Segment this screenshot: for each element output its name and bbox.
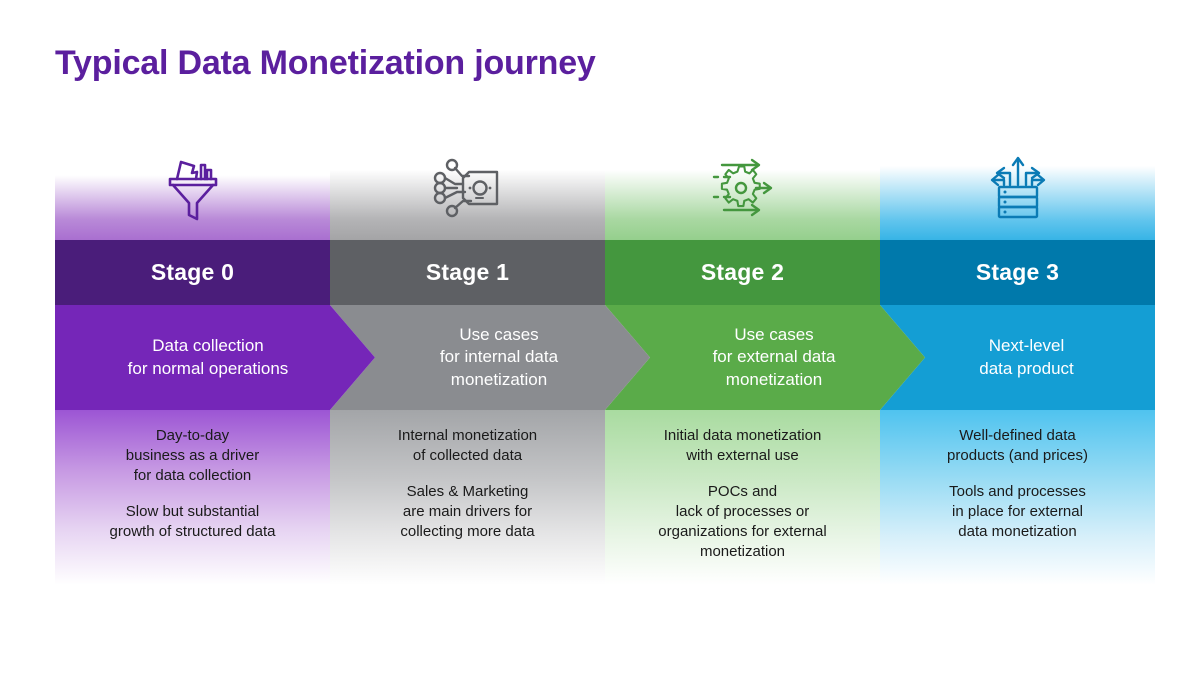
stage-3-detail-item: Tools and processesin place for external… — [880, 482, 1155, 542]
stage-1-details: Internal monetizationof collected data S… — [330, 410, 605, 585]
stage-0-icon-panel — [55, 145, 330, 240]
stage-1-header: Stage 1 — [330, 240, 605, 305]
stage-0-summary-line: for normal operations — [88, 358, 328, 381]
stage-0-label: Stage 0 — [151, 259, 234, 286]
stage-3-summary-line: Next-level — [908, 335, 1145, 358]
stage-2-arrow: Use cases for external data monetization — [605, 305, 925, 410]
server-distribution-arrows-icon — [880, 153, 1155, 223]
stage-1-detail-item: Internal monetizationof collected data — [330, 426, 605, 466]
stage-1-label: Stage 1 — [426, 259, 509, 286]
slide-canvas: Typical Data Monetization journey Stage … — [0, 0, 1200, 675]
stage-1-summary-line: Use cases — [379, 324, 619, 347]
stage-1-summary-line: for internal data — [379, 346, 619, 369]
stage-3-label: Stage 3 — [976, 259, 1059, 286]
stage-2-summary-line: monetization — [654, 369, 894, 392]
stage-column-1: Stage 1 Use cases for internal data mone… — [330, 145, 605, 585]
stage-column-3: Stage 3 Next-level data product Well-def… — [880, 145, 1155, 585]
stage-3-details: Well-defined dataproducts (and prices) T… — [880, 410, 1155, 585]
stage-column-0: Stage 0 Data collection for normal opera… — [55, 145, 330, 585]
stage-2-details: Initial data monetizationwith external u… — [605, 410, 880, 585]
stage-3-header: Stage 3 — [880, 240, 1155, 305]
stage-0-summary: Data collection for normal operations — [80, 335, 350, 380]
stage-1-detail-item: Sales & Marketingare main drivers forcol… — [330, 482, 605, 542]
stage-2-label: Stage 2 — [701, 259, 784, 286]
stage-0-header: Stage 0 — [55, 240, 330, 305]
stage-1-summary: Use cases for internal data monetization — [351, 324, 629, 392]
stage-0-detail-item: Day-to-daybusiness as a driverfor data c… — [55, 426, 330, 486]
stage-3-icon-panel — [880, 145, 1155, 240]
stage-column-2: Stage 2 Use cases for external data mone… — [605, 145, 880, 585]
stage-0-arrow: Data collection for normal operations — [55, 305, 375, 410]
stage-2-icon-panel — [605, 145, 880, 240]
stage-2-summary-line: Use cases — [654, 324, 894, 347]
page-title: Typical Data Monetization journey — [55, 44, 596, 83]
stage-2-detail-item: Initial data monetizationwith external u… — [605, 426, 880, 466]
stage-0-summary-line: Data collection — [88, 335, 328, 358]
stage-0-details: Day-to-daybusiness as a driverfor data c… — [55, 410, 330, 585]
stage-2-summary-line: for external data — [654, 346, 894, 369]
gear-process-arrows-icon — [605, 153, 880, 223]
circuit-banknote-icon — [330, 153, 605, 223]
stage-1-arrow: Use cases for internal data monetization — [330, 305, 650, 410]
stage-2-detail-item: POCs andlack of processes ororganization… — [605, 482, 880, 562]
stage-1-icon-panel — [330, 145, 605, 240]
stage-2-header: Stage 2 — [605, 240, 880, 305]
stage-1-summary-line: monetization — [379, 369, 619, 392]
stage-3-summary-line: data product — [908, 358, 1145, 381]
stage-3-detail-item: Well-defined dataproducts (and prices) — [880, 426, 1155, 466]
stage-0-detail-item: Slow but substantialgrowth of structured… — [55, 502, 330, 542]
stage-2-summary: Use cases for external data monetization — [626, 324, 904, 392]
funnel-chart-icon — [55, 153, 330, 223]
